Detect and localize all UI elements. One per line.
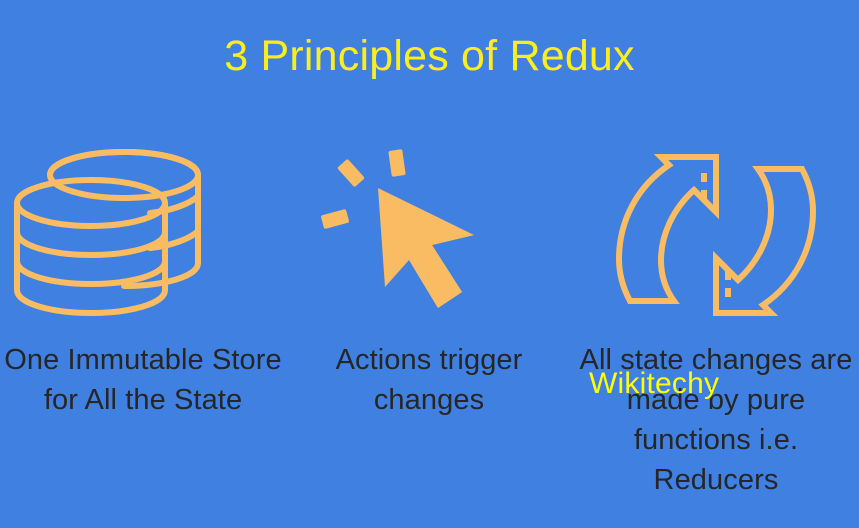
- refresh-cycle-icon-wrap: [573, 140, 859, 330]
- principle-column-store: One Immutable Store for All the State: [0, 140, 286, 520]
- redux-principles-slide: 3 Principles of Redux: [0, 0, 859, 528]
- principle-caption: Actions trigger changes: [286, 340, 572, 420]
- refresh-cycle-icon: [573, 140, 859, 330]
- principle-column-reducers: All state changes are made by pure funct…: [573, 140, 859, 520]
- database-stack-icon-wrap: [0, 140, 286, 330]
- cursor-click-icon-overlay: [286, 140, 572, 330]
- principle-caption: One Immutable Store for All the State: [0, 340, 286, 420]
- database-stack-icon: [0, 140, 286, 330]
- cursor-click-icon-wrap: Wikitechy: [286, 140, 572, 330]
- watermark-text: Wikitechy: [589, 366, 719, 402]
- principle-caption: All state changes are made by pure funct…: [571, 340, 859, 500]
- principle-column-actions: Wikitechy Actions trigger changes: [286, 140, 572, 520]
- page-title: 3 Principles of Redux: [0, 28, 859, 84]
